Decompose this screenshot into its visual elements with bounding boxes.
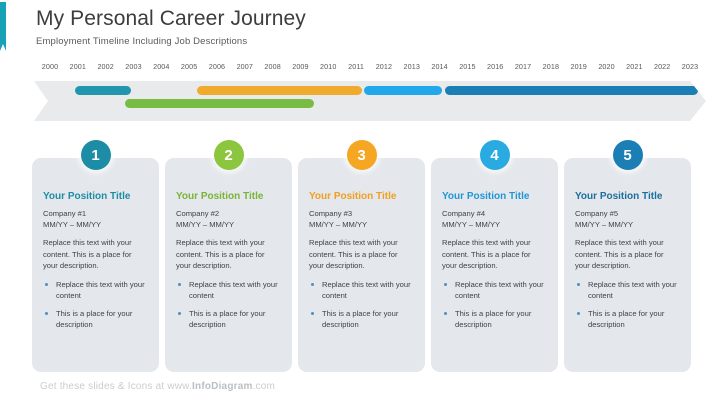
card-bullet-item: This is a place for your description [309,308,414,331]
card-bullet-list: Replace this text with your contentThis … [442,279,547,331]
card-dates: MM/YY – MM/YY [575,219,680,230]
card-number-badge-4: 4 [480,140,510,170]
bar-position-3 [197,86,361,95]
year-label-2001: 2001 [70,62,86,71]
footer-prefix: Get these slides & Icons at www. [40,381,192,392]
year-label-2004: 2004 [153,62,169,71]
card-title: Your Position Title [575,190,680,203]
card-bullet-item: Replace this text with your content [176,279,281,302]
card-bullet-list: Replace this text with your contentThis … [176,279,281,331]
year-label-2009: 2009 [292,62,308,71]
card-description: Replace this text with your content. Thi… [442,237,547,272]
card-bullet-item: Replace this text with your content [442,279,547,302]
year-label-2018: 2018 [543,62,559,71]
card-description: Replace this text with your content. Thi… [309,237,414,272]
card-number-badge-1: 1 [81,140,111,170]
timeline-arrow-band [34,81,706,121]
card-company: Company #4 [442,208,547,219]
year-label-2003: 2003 [125,62,141,71]
year-label-2015: 2015 [459,62,475,71]
card-description: Replace this text with your content. Thi… [575,237,680,272]
page-subtitle: Employment Timeline Including Job Descri… [36,36,306,47]
card-bullet-item: Replace this text with your content [43,279,148,302]
card-bullet-list: Replace this text with your contentThis … [575,279,680,331]
year-label-2005: 2005 [181,62,197,71]
card-company: Company #5 [575,208,680,219]
year-label-2022: 2022 [654,62,670,71]
bar-position-5 [445,86,698,95]
card-bullet-item: Replace this text with your content [575,279,680,302]
year-label-2021: 2021 [626,62,642,71]
card-dates: MM/YY – MM/YY [309,219,414,230]
year-label-2011: 2011 [348,62,364,71]
year-label-2016: 2016 [487,62,503,71]
year-label-2006: 2006 [209,62,225,71]
year-label-2002: 2002 [97,62,113,71]
card-bullet-item: This is a place for your description [442,308,547,331]
card-bullet-item: This is a place for your description [43,308,148,331]
card-number-badge-2: 2 [214,140,244,170]
card-dates: MM/YY – MM/YY [442,219,547,230]
card-company: Company #3 [309,208,414,219]
timeline: 2000200120022003200420052006200720082009… [34,62,706,122]
card-number-badge-3: 3 [347,140,377,170]
year-label-2000: 2000 [42,62,58,71]
card-dates: MM/YY – MM/YY [176,219,281,230]
card-company: Company #2 [176,208,281,219]
page-title: My Personal Career Journey [36,6,306,32]
footer-suffix: .com [253,381,275,392]
card-title: Your Position Title [309,190,414,203]
year-axis: 2000200120022003200420052006200720082009… [34,62,706,76]
card-title: Your Position Title [43,190,148,203]
year-label-2013: 2013 [404,62,420,71]
card-bullet-list: Replace this text with your contentThis … [43,279,148,331]
position-card-2[interactable]: 2Your Position TitleCompany #2MM/YY – MM… [165,158,292,372]
card-description: Replace this text with your content. Thi… [43,237,148,272]
year-label-2008: 2008 [264,62,280,71]
card-bullet-item: This is a place for your description [575,308,680,331]
card-description: Replace this text with your content. Thi… [176,237,281,272]
card-title: Your Position Title [442,190,547,203]
bar-position-2 [125,99,314,108]
card-company: Company #1 [43,208,148,219]
year-label-2012: 2012 [376,62,392,71]
year-label-2023: 2023 [682,62,698,71]
year-label-2019: 2019 [570,62,586,71]
footer-credit: Get these slides & Icons at www.InfoDiag… [40,381,275,392]
position-cards: 1Your Position TitleCompany #1MM/YY – MM… [32,158,692,374]
year-label-2020: 2020 [598,62,614,71]
card-bullet-item: This is a place for your description [176,308,281,331]
year-label-2014: 2014 [431,62,447,71]
footer-brand: InfoDiagram [192,381,253,392]
position-card-4[interactable]: 4Your Position TitleCompany #4MM/YY – MM… [431,158,558,372]
card-bullet-list: Replace this text with your contentThis … [309,279,414,331]
year-label-2017: 2017 [515,62,531,71]
card-number-badge-5: 5 [613,140,643,170]
card-bullet-item: Replace this text with your content [309,279,414,302]
year-label-2010: 2010 [320,62,336,71]
position-card-5[interactable]: 5Your Position TitleCompany #5MM/YY – MM… [564,158,691,372]
header: My Personal Career Journey Employment Ti… [36,6,306,47]
card-dates: MM/YY – MM/YY [43,219,148,230]
position-card-1[interactable]: 1Your Position TitleCompany #1MM/YY – MM… [32,158,159,372]
bar-position-1 [75,86,131,95]
year-label-2007: 2007 [237,62,253,71]
bar-position-4 [364,86,442,95]
position-card-3[interactable]: 3Your Position TitleCompany #3MM/YY – MM… [298,158,425,372]
card-title: Your Position Title [176,190,281,203]
title-accent-bar [0,2,6,44]
